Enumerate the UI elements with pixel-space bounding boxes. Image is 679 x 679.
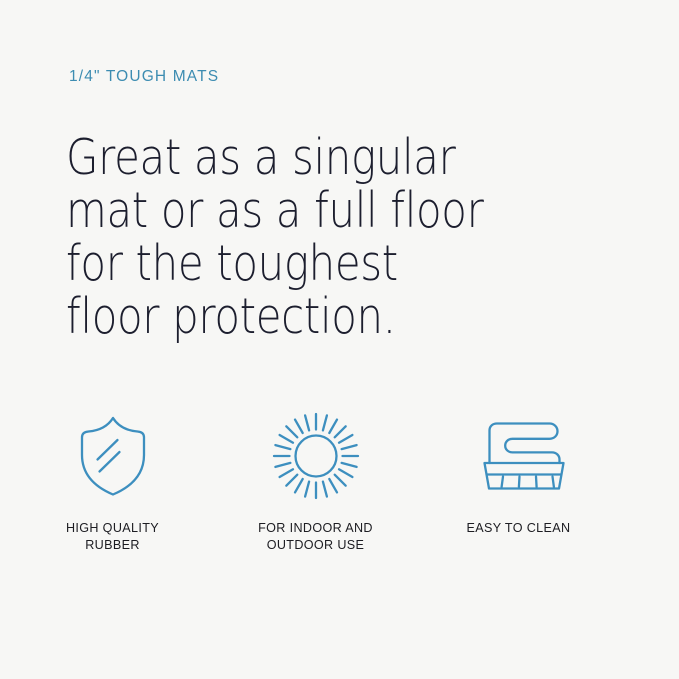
feature-item-indoor-outdoor: FOR INDOOR AND OUTDOOR USE <box>214 406 417 553</box>
page-headline: Great as a singular mat or as a full flo… <box>66 131 586 343</box>
headline-line-4: floor protection. <box>66 290 511 343</box>
feature-label-indoor-outdoor: FOR INDOOR AND OUTDOOR USE <box>258 520 373 553</box>
feature-item-high-quality-rubber: HIGH QUALITY RUBBER <box>11 406 214 553</box>
eyebrow-label: 1/4" TOUGH MATS <box>69 68 219 86</box>
feature-item-easy-to-clean: EASY TO CLEAN <box>417 406 620 553</box>
feature-list: HIGH QUALITY RUBBER <box>0 406 679 553</box>
scrub-brush-icon <box>473 406 565 506</box>
feature-label-high-quality-rubber: HIGH QUALITY RUBBER <box>66 520 159 553</box>
headline-line-3: for the toughest <box>66 237 511 290</box>
headline-line-1: Great as a singular <box>66 131 511 184</box>
feature-label-easy-to-clean: EASY TO CLEAN <box>467 520 571 537</box>
product-feature-panel: 1/4" TOUGH MATS Great as a singular mat … <box>0 0 679 679</box>
sun-icon <box>268 406 364 506</box>
shield-icon <box>76 406 150 506</box>
headline-line-2: mat or as a full floor <box>66 184 511 237</box>
